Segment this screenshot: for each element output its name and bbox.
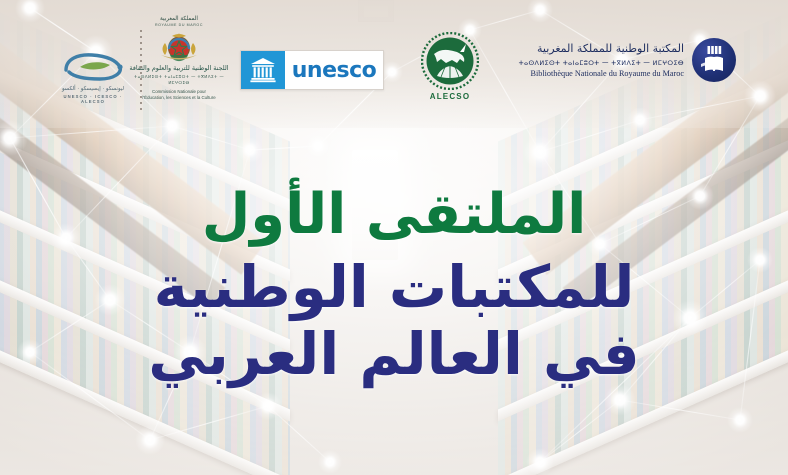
- bnrm-emblem: [692, 38, 736, 82]
- alecso-wordmark: ALECSO: [408, 92, 492, 101]
- bnrm-tifinagh-name: ⵜⴰⵙⴷⵍⵉⵙⵜ ⵜⴰⵏⴰⵎⵓⵔⵜ ⼀ ⵜⴳⵍⴷⵉⵜ ⼀ ⵍⵎⵖⵔⵉⴱ: [519, 58, 684, 67]
- unesco-emblem-box: [241, 51, 285, 89]
- alecso-left-arabic-label: ليونسكو · إيسيسكو · ألكسو: [52, 86, 134, 92]
- arab-world-seal-icon: [421, 32, 479, 90]
- unesco-wordmark: unesco: [285, 51, 383, 89]
- title-line-3: في العالم العربي: [0, 322, 788, 387]
- logo-bar: ليونسكو · إيسيسكو · ألكسو UNESCO · ICESC…: [0, 0, 788, 122]
- commission-nationale-maroc-logo[interactable]: المملكة المغربية ROYAUME DU MAROC اللجنة…: [126, 16, 232, 102]
- alecso-logo[interactable]: ALECSO: [408, 32, 492, 101]
- alecso-arab-organization-mark[interactable]: ليونسكو · إيسيسكو · ألكسو UNESCO · ICESC…: [52, 50, 134, 104]
- swoosh-icon: [58, 50, 128, 84]
- bnrm-text-block: المكتبة الوطنية للمملكة المغربية ⵜⴰⵙⴷⵍⵉⵙ…: [519, 42, 684, 78]
- unesco-logo[interactable]: unesco: [240, 50, 384, 90]
- kingdom-french-label: ROYAUME DU MAROC: [126, 23, 232, 27]
- bnrm-french-name: Bibliothèque Nationale du Royaume du Mar…: [519, 69, 684, 78]
- event-title: الملتقى الأول للمكتبات الوطنية في العالم…: [0, 186, 788, 387]
- kingdom-arabic-label: المملكة المغربية: [126, 16, 232, 22]
- bnrm-arabic-name: المكتبة الوطنية للمملكة المغربية: [519, 42, 684, 56]
- conference-banner: ليونسكو · إيسيسكو · ألكسو UNESCO · ICESC…: [0, 0, 788, 475]
- moroccan-coat-of-arms-icon: [151, 29, 207, 63]
- bnrm-logo[interactable]: المكتبة الوطنية للمملكة المغربية ⵜⴰⵙⴷⵍⵉⵙ…: [488, 38, 736, 82]
- title-line-2: للمكتبات الوطنية: [0, 255, 788, 320]
- commission-tifinagh-name: ⵜⴰⵙⴷⵍⵉⵙⵜ ⵜⴰⵏⴰⵎⵓⵔⵜ ⼀ ⵜⴳⵍⴷⵉⵜ ⼀ ⵍⵎⵖⵔⵉⴱ: [126, 74, 232, 85]
- alecso-left-latin-label: UNESCO · ICESCO · ALECSO: [52, 94, 134, 104]
- greek-temple-icon: [249, 57, 277, 83]
- commission-french-line2: l'Éducation, les Sciences et la Culture: [126, 95, 232, 101]
- commission-arabic-name: اللجنة الوطنية للتربية والعلوم والثقافة: [126, 64, 232, 72]
- open-book-circle-icon: [699, 44, 729, 76]
- title-line-1: الملتقى الأول: [0, 186, 788, 245]
